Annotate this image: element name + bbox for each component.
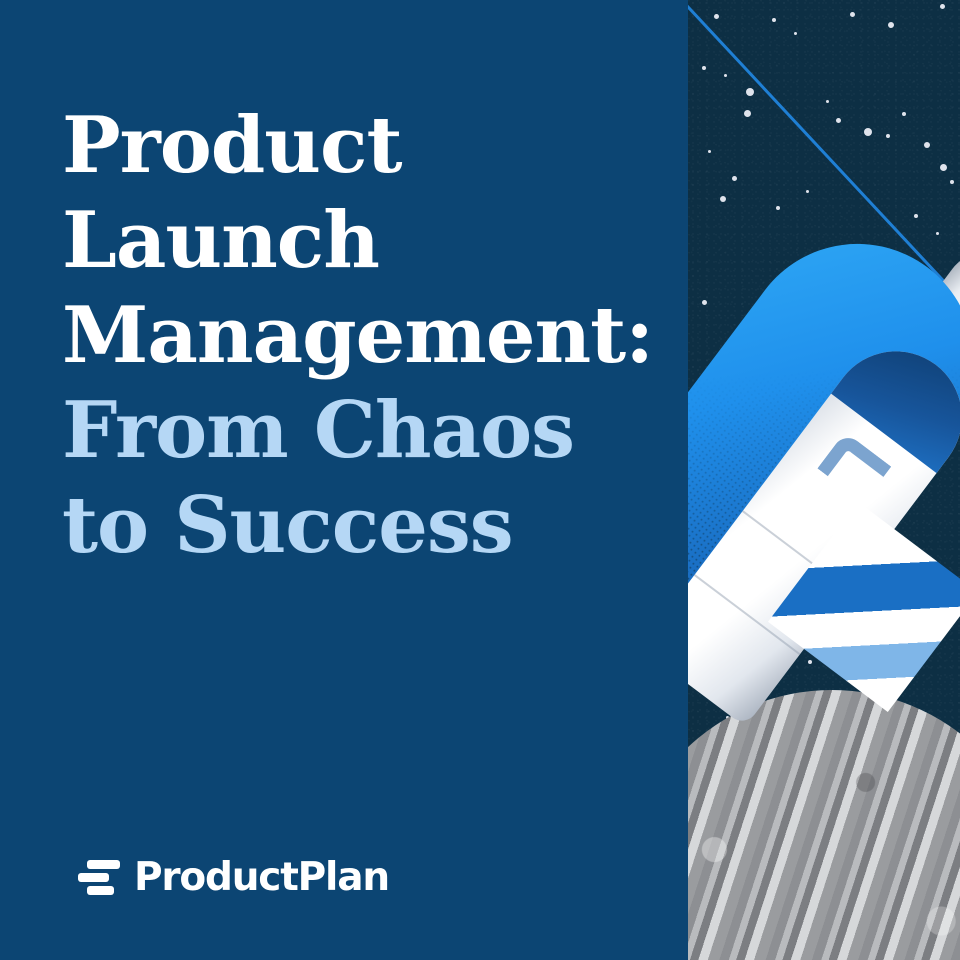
cockpit-window-icon xyxy=(817,432,891,504)
star xyxy=(864,128,872,136)
poster-canvas: Product Launch Management: From Chaos to… xyxy=(0,0,960,960)
headline-line-3: Management: xyxy=(62,288,662,383)
star xyxy=(724,74,727,77)
headline-line-4: From Chaos xyxy=(62,383,662,478)
star xyxy=(950,180,954,184)
star xyxy=(924,142,930,148)
space-shuttle xyxy=(688,196,960,756)
star xyxy=(850,12,855,17)
star xyxy=(940,164,947,171)
headline-line-1: Product xyxy=(62,98,662,193)
roadmap-bars-icon xyxy=(78,858,120,898)
star xyxy=(888,22,894,28)
star xyxy=(708,150,711,153)
brand-logo[interactable]: ProductPlan xyxy=(78,858,389,898)
star xyxy=(826,100,829,103)
star xyxy=(902,112,906,116)
star xyxy=(886,134,890,138)
star xyxy=(794,32,797,35)
star xyxy=(732,176,737,181)
star xyxy=(940,4,945,9)
star xyxy=(714,14,719,19)
star xyxy=(744,110,751,117)
space-artwork-panel xyxy=(688,0,960,960)
star xyxy=(772,18,776,22)
star xyxy=(806,190,809,193)
headline-line-5: to Success xyxy=(62,478,662,573)
star xyxy=(702,66,706,70)
page-title: Product Launch Management: From Chaos to… xyxy=(62,98,662,573)
star xyxy=(746,88,754,96)
headline-line-2: Launch xyxy=(62,193,662,288)
brand-name: ProductPlan xyxy=(134,858,389,898)
star xyxy=(836,118,841,123)
